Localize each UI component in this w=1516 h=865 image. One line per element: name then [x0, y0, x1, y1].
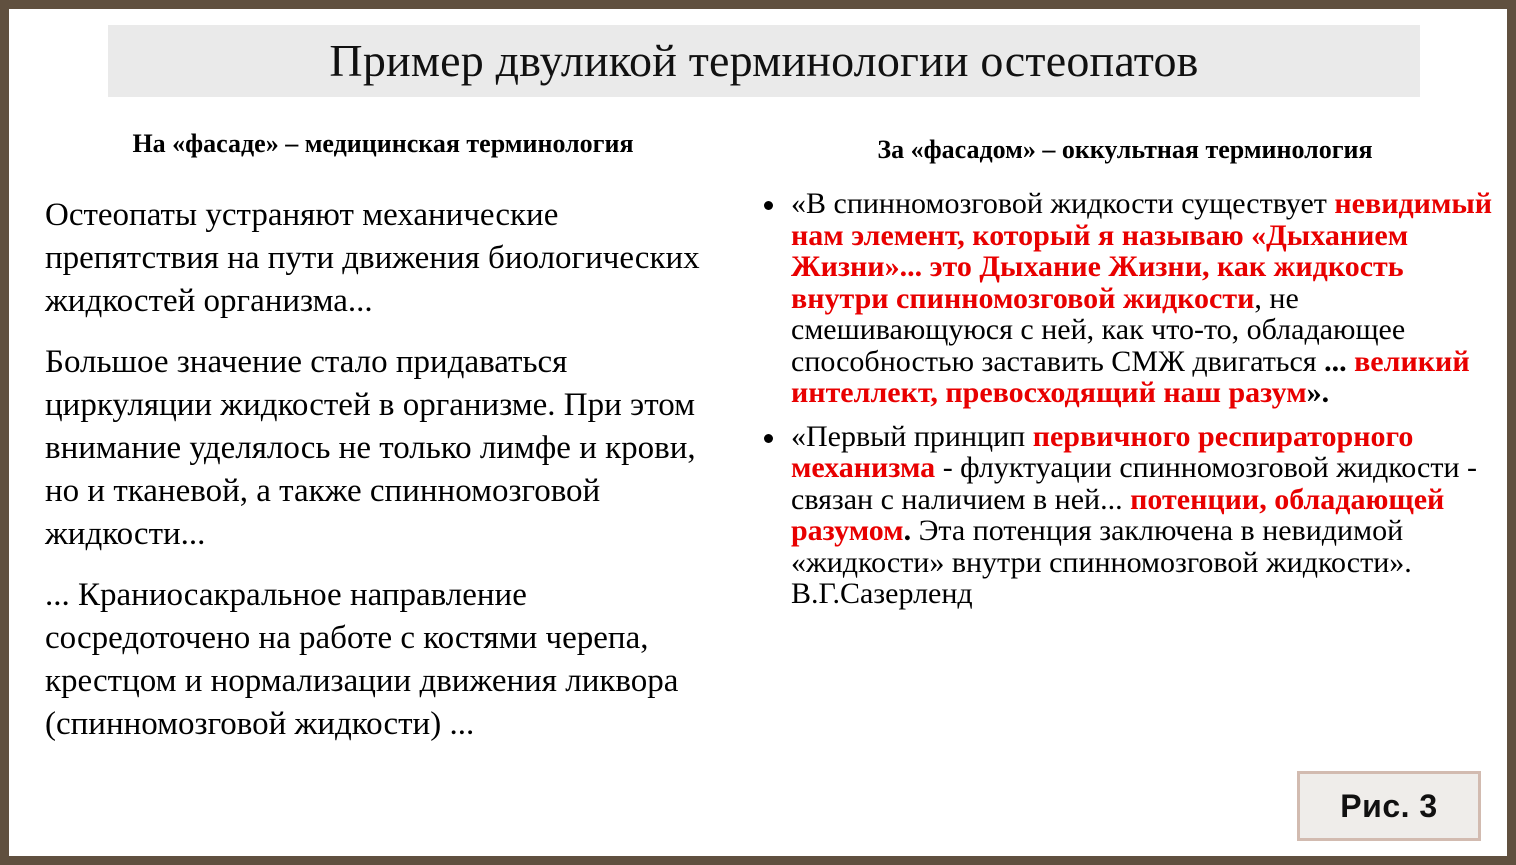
left-column-body: Остеопаты устраняют механические препятс… — [45, 194, 721, 746]
right-column: За «фасадом» – оккультная терминология «… — [749, 133, 1501, 622]
right-column-header: За «фасадом» – оккультная терминология — [749, 133, 1501, 166]
title-band: Пример двуликой терминологии остеопатов — [108, 25, 1420, 97]
left-paragraph: Большое значение стало придаваться цирку… — [45, 341, 721, 556]
figure-badge-label: Рис. 3 — [1340, 788, 1437, 825]
text-run — [1347, 345, 1355, 378]
text-run: ». — [1307, 376, 1330, 409]
figure-badge: Рис. 3 — [1297, 771, 1481, 841]
left-paragraph: ... Краниосакральное направление сосредо… — [45, 574, 721, 746]
text-run: «В спинномозговой жидкости существует — [791, 187, 1334, 220]
text-run: ... — [1324, 345, 1347, 378]
page-title: Пример двуликой терминологии остеопатов — [329, 37, 1198, 85]
left-column-header: На «фасаде» – медицинская терминология — [45, 127, 721, 160]
left-column: На «фасаде» – медицинская терминология О… — [45, 127, 721, 764]
left-paragraph: Остеопаты устраняют механические препятс… — [45, 194, 721, 323]
text-run: . — [904, 514, 912, 547]
list-item: «Первый принцип первичного респираторног… — [749, 421, 1501, 610]
list-item: «В спинномозговой жидкости существует не… — [749, 188, 1501, 409]
quote-bullet-list: «В спинномозговой жидкости существует не… — [749, 188, 1501, 610]
slide-root: Пример двуликой терминологии остеопатов … — [0, 0, 1516, 865]
text-run: «Первый принцип — [791, 420, 1033, 453]
